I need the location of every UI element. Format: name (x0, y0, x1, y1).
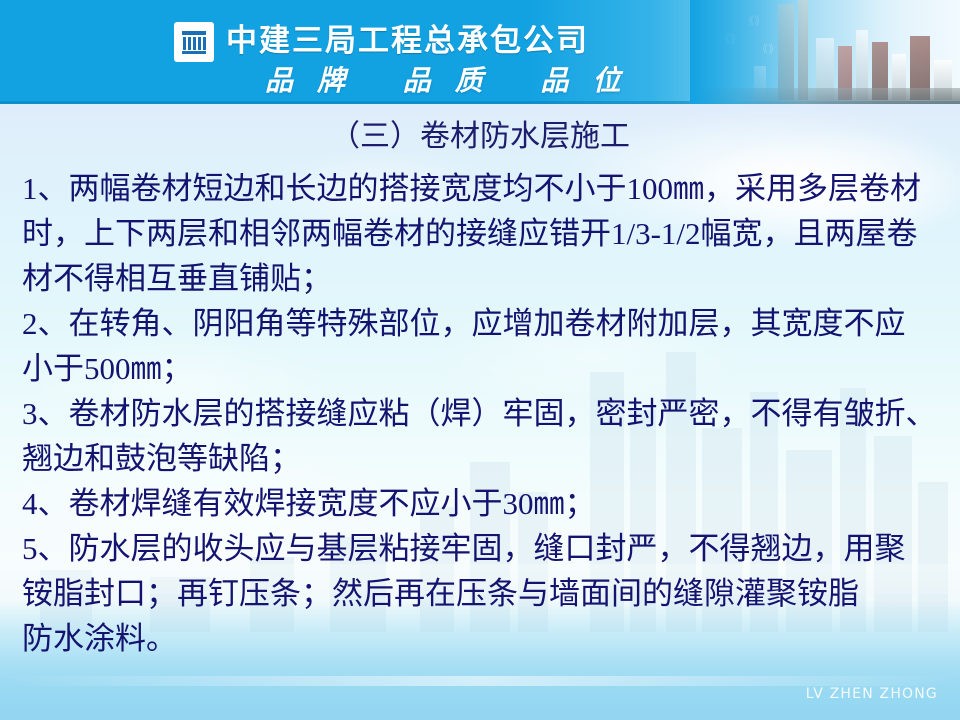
banner-skyline-photo: ⟪⟫ ⟪⟫ ⟪⟫ (690, 0, 960, 104)
body-line: 铵脂封口；再钉压条；然后再在压条与墙面间的缝隙灌聚铵脂 (22, 571, 946, 616)
body-line: 小于500㎜； (22, 346, 946, 391)
body-line: 材不得相互垂直铺贴； (22, 256, 946, 301)
body-line: 时，上下两层和相邻两幅卷材的接缝应错开1/3-1/2幅宽，且两屋卷 (22, 211, 946, 256)
slide-body: 1、两幅卷材短边和长边的搭接宽度均不小于100㎜，采用多层卷材 时，上下两层和相… (22, 166, 946, 661)
body-line: 翘边和鼓泡等缺陷； (22, 436, 946, 481)
body-line: 4、卷材焊缝有效焊接宽度不应小于30㎜； (22, 481, 946, 526)
banner-photo-fade (690, 0, 960, 104)
watermark: LV ZHEN ZHONG (806, 686, 938, 702)
body-line: 1、两幅卷材短边和长边的搭接宽度均不小于100㎜，采用多层卷材 (22, 166, 946, 211)
company-name: 中建三局工程总承包公司 (226, 21, 589, 61)
slide-title: （三）卷材防水层施工 (0, 118, 960, 156)
presentation-slide: ⟪⟫ ⟪⟫ ⟪⟫ 中建三局工程总承包公司 品牌 品质 品位 （三）卷材防水层施工… (0, 0, 960, 720)
body-line: 2、在转角、阴阳角等特殊部位，应增加卷材附加层，其宽度不应 (22, 301, 946, 346)
body-line: 3、卷材防水层的搭接缝应粘（焊）牢固，密封严密，不得有皱折、 (22, 391, 946, 436)
company-logo-icon (174, 22, 214, 62)
body-line: 5、防水层的收头应与基层粘接牢固，缝口封严，不得翘边，用聚 (22, 526, 946, 571)
header-banner: ⟪⟫ ⟪⟫ ⟪⟫ 中建三局工程总承包公司 品牌 品质 品位 (0, 0, 960, 104)
body-line: 防水涂料。 (22, 616, 946, 661)
company-slogan: 品牌 品质 品位 (265, 64, 645, 98)
